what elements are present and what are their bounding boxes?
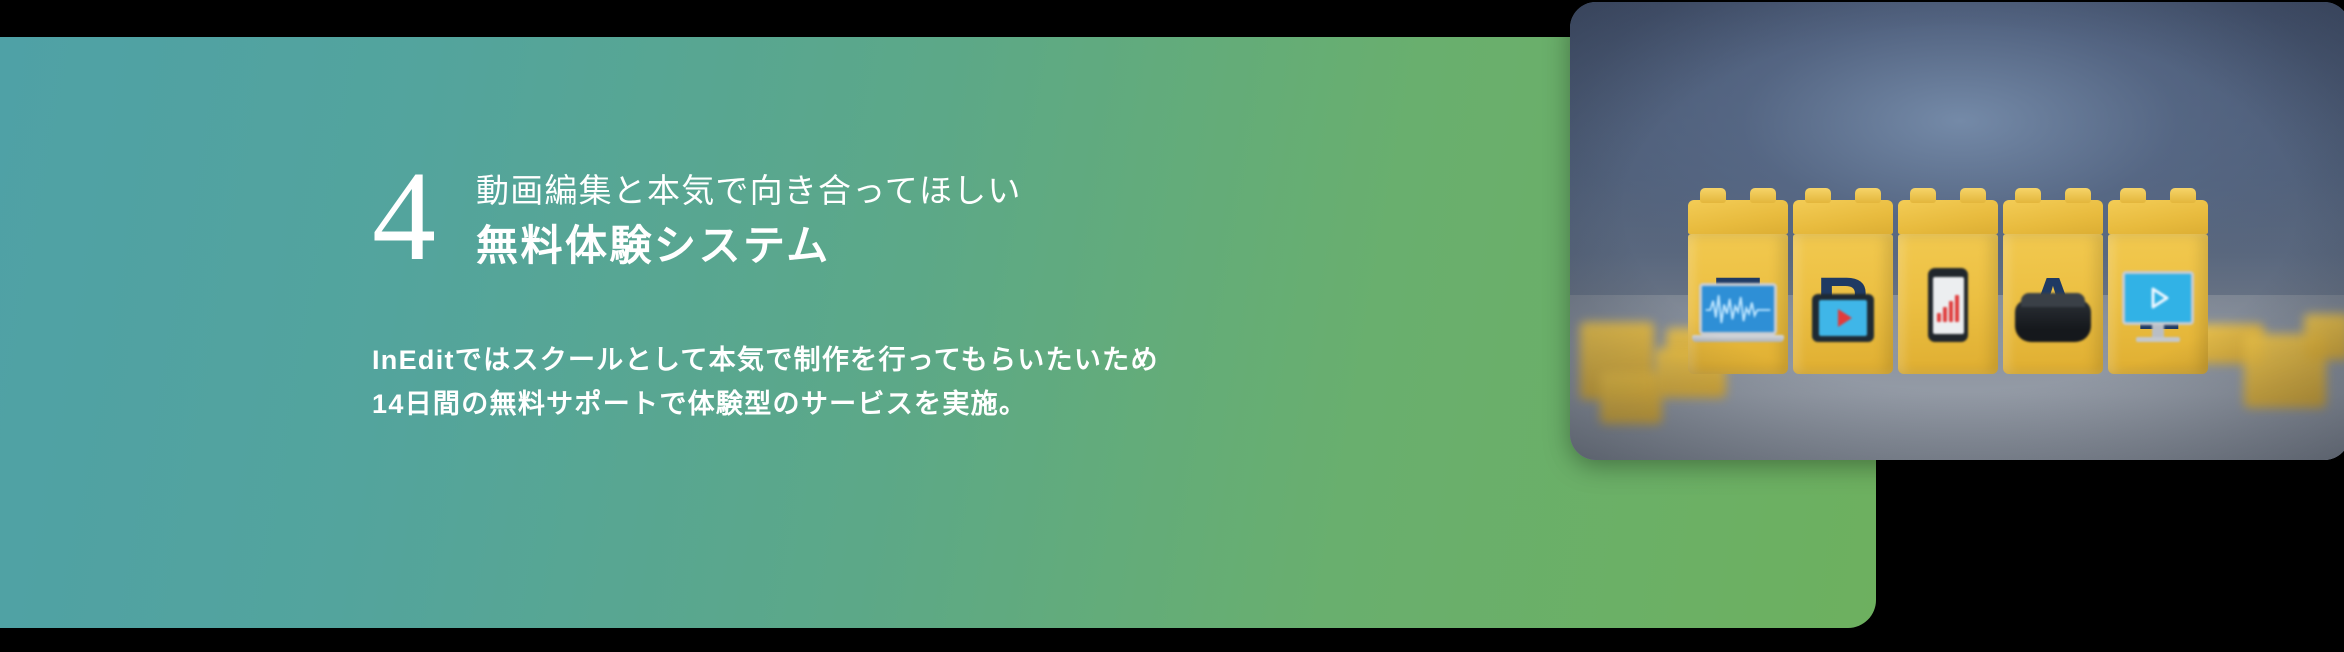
laptop-base bbox=[1692, 335, 1784, 342]
section-body-line-2: 14日間の無料サポートで体験型のサービスを実施。 bbox=[372, 383, 1412, 427]
laptop-screen bbox=[1699, 283, 1777, 335]
chart-bar bbox=[1949, 301, 1953, 322]
trial-block: I bbox=[1898, 200, 1998, 374]
trial-block-row: T bbox=[1688, 200, 2208, 374]
phone-body bbox=[1928, 268, 1968, 342]
heading-row: 4 動画編集と本気で向き合ってほしい 無料体験システム bbox=[372, 160, 1412, 279]
section-body-line-1: InEditではスクールとして本気で制作を行ってもらいたいため bbox=[372, 339, 1412, 383]
brick-stud bbox=[1855, 188, 1881, 203]
brick-studs bbox=[2108, 200, 2208, 234]
feature-content: 4 動画編集と本気で向き合ってほしい 無料体験システム InEditではスクール… bbox=[372, 160, 1412, 427]
trial-photo-card: T bbox=[1570, 2, 2344, 460]
vr-body bbox=[2015, 300, 2091, 342]
chart-bar bbox=[1943, 307, 1947, 322]
chart-bar bbox=[1937, 313, 1941, 322]
monitor-screen bbox=[2122, 271, 2194, 325]
vr-headset-icon bbox=[2015, 300, 2091, 342]
screenshot-root: 4 動画編集と本気で向き合ってほしい 無料体験システム InEditではスクール… bbox=[0, 0, 2344, 652]
brick-studs bbox=[2003, 200, 2103, 234]
trial-block: A bbox=[2003, 200, 2103, 374]
section-title: 無料体験システム bbox=[476, 219, 1022, 274]
smartphone-chart-icon bbox=[1928, 268, 1968, 342]
brick-stud bbox=[1960, 188, 1986, 203]
background-brick bbox=[1600, 372, 1662, 424]
play-icon bbox=[2143, 283, 2173, 313]
tablet-screen bbox=[1819, 300, 1867, 336]
section-body: InEditではスクールとして本気で制作を行ってもらいたいため 14日間の無料サ… bbox=[372, 339, 1412, 426]
vr-strap bbox=[2021, 293, 2085, 307]
section-number: 4 bbox=[372, 154, 434, 279]
monitor-stand bbox=[2152, 325, 2164, 337]
brick-stud bbox=[1910, 188, 1936, 203]
waveform-icon bbox=[1702, 286, 1774, 334]
brick-studs bbox=[1898, 200, 1998, 234]
brick-stud bbox=[1805, 188, 1831, 203]
tablet-play-icon bbox=[1812, 294, 1874, 342]
monitor-foot bbox=[2136, 337, 2180, 342]
brick-stud bbox=[2065, 188, 2091, 203]
laptop-waveform-icon bbox=[1699, 283, 1777, 342]
chart-bar bbox=[1955, 295, 1959, 322]
brick-studs bbox=[1793, 200, 1893, 234]
trial-block: R bbox=[1793, 200, 1893, 374]
trial-block: T bbox=[1688, 200, 1788, 374]
brick-stud bbox=[2170, 188, 2196, 203]
tablet-body bbox=[1812, 294, 1874, 342]
trial-block: L bbox=[2108, 200, 2208, 374]
photo-backdrop: T bbox=[1570, 2, 2344, 460]
section-subtitle: 動画編集と本気で向き合ってほしい bbox=[476, 170, 1022, 212]
monitor-play-icon bbox=[2122, 271, 2194, 342]
heading-text-group: 動画編集と本気で向き合ってほしい 無料体験システム bbox=[476, 160, 1022, 274]
brick-stud bbox=[2120, 188, 2146, 203]
background-brick bbox=[2304, 314, 2344, 360]
brick-studs bbox=[1688, 200, 1788, 234]
brick-stud bbox=[1750, 188, 1776, 203]
phone-screen bbox=[1933, 277, 1964, 334]
brick-stud bbox=[1700, 188, 1726, 203]
brick-stud bbox=[2015, 188, 2041, 203]
play-icon bbox=[1838, 309, 1852, 327]
